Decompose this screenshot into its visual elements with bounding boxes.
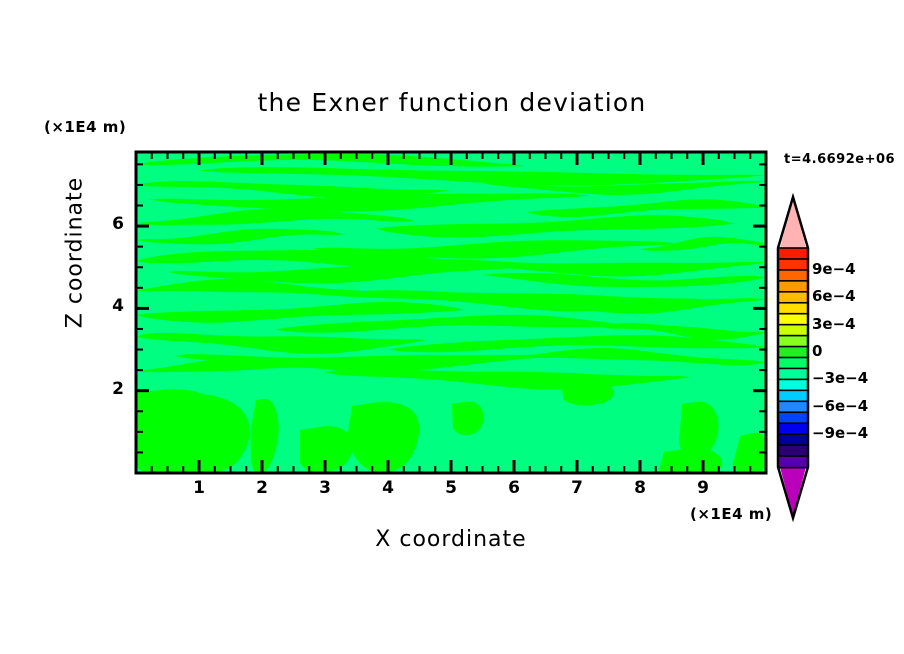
- colorbar-tick-label: 0: [812, 342, 822, 360]
- x-tick-label: 4: [368, 478, 408, 498]
- y-axis-title: Z coordinate: [63, 153, 88, 353]
- colorbar-band: [778, 325, 808, 337]
- x-tick-label: 8: [620, 478, 660, 498]
- contour-band-region: [560, 378, 613, 406]
- colorbar-band: [778, 368, 808, 380]
- colorbar-band: [778, 336, 808, 348]
- y-tick-label: 6: [84, 214, 124, 234]
- colorbar: [778, 197, 808, 518]
- timestamp-label: t=4.6692e+06: [784, 152, 895, 167]
- x-axis-unit: (×1E4 m): [690, 505, 772, 523]
- colorbar-band: [778, 314, 808, 326]
- colorbar-band: [778, 270, 808, 282]
- x-tick-label: 7: [557, 478, 597, 498]
- y-tick-label: 2: [84, 379, 124, 399]
- colorbar-tick-label: 3e−4: [812, 315, 856, 333]
- colorbar-band: [778, 379, 808, 391]
- colorbar-band: [778, 456, 808, 468]
- colorbar-band: [778, 248, 808, 260]
- contour-band-region: [659, 448, 722, 475]
- colorbar-band: [778, 445, 808, 457]
- colorbar-tick-label: 9e−4: [812, 260, 856, 278]
- colorbar-band: [778, 303, 808, 315]
- colorbar-tick-label: −6e−4: [812, 397, 868, 415]
- page-title: the Exner function deviation: [0, 88, 904, 117]
- colorbar-band: [778, 401, 808, 413]
- colorbar-band: [778, 434, 808, 446]
- y-tick-label: 4: [84, 296, 124, 316]
- colorbar-band: [778, 347, 808, 359]
- colorbar-bands: [778, 248, 808, 468]
- x-tick-label: 1: [179, 478, 219, 498]
- colorbar-band: [778, 412, 808, 424]
- contour-band-region: [136, 389, 211, 417]
- colorbar-band: [778, 390, 808, 402]
- x-tick-label: 6: [494, 478, 534, 498]
- contour-field: [133, 152, 767, 476]
- colorbar-tick-label: 6e−4: [812, 287, 856, 305]
- colorbar-band: [778, 358, 808, 370]
- colorbar-band: [778, 281, 808, 293]
- x-tick-label: 3: [305, 478, 345, 498]
- x-axis-title: X coordinate: [136, 527, 766, 552]
- colorbar-band: [778, 423, 808, 435]
- x-tick-label: 5: [431, 478, 471, 498]
- x-tick-label: 9: [683, 478, 723, 498]
- y-axis-unit: (×1E4 m): [44, 118, 126, 136]
- colorbar-band: [778, 259, 808, 271]
- x-tick-label: 2: [242, 478, 282, 498]
- colorbar-tick-label: −9e−4: [812, 424, 868, 442]
- colorbar-band: [778, 292, 808, 304]
- colorbar-tick-label: −3e−4: [812, 369, 868, 387]
